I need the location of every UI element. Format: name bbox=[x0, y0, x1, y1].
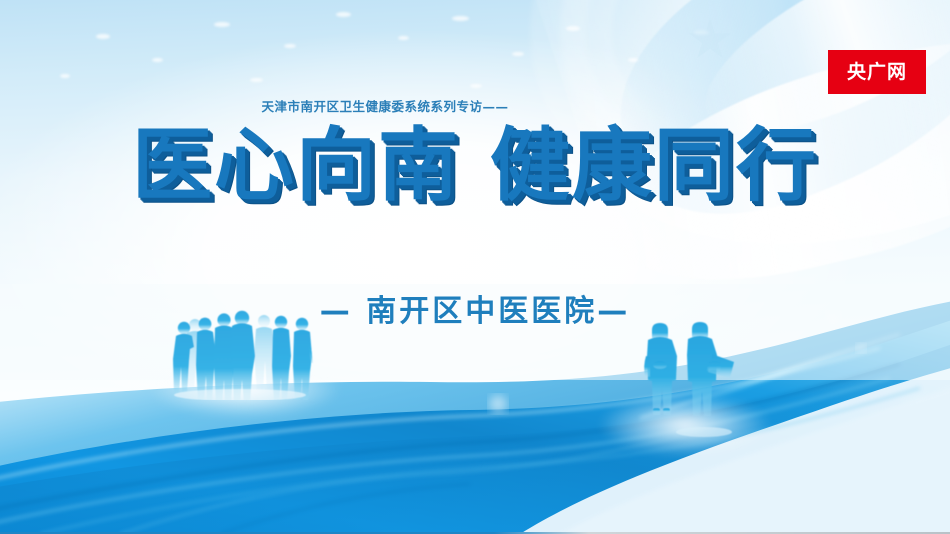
doctor-shadow bbox=[676, 427, 732, 437]
light-fleck bbox=[284, 44, 296, 48]
light-fleck bbox=[452, 16, 469, 21]
light-fleck bbox=[336, 12, 351, 17]
doctor-figure-right bbox=[687, 322, 734, 416]
cnr-logo-text: 央广网 bbox=[847, 63, 907, 82]
light-fleck bbox=[214, 22, 230, 27]
light-fleck bbox=[60, 74, 70, 78]
light-fleck bbox=[470, 84, 482, 88]
kicker-text: 天津市南开区卫生健康委系统系列专访—— bbox=[0, 96, 860, 115]
crowd-figure bbox=[293, 318, 313, 400]
cnr-logo[interactable]: 央广网 bbox=[828, 50, 926, 94]
light-fleck bbox=[96, 34, 110, 39]
light-fleck bbox=[152, 58, 163, 62]
bokeh-dot bbox=[489, 395, 507, 413]
light-fleck bbox=[398, 36, 409, 40]
doctor-figure-left bbox=[644, 323, 677, 415]
doctor-silhouettes-graphic bbox=[620, 320, 740, 445]
subject-title: — 南开区中医医院— bbox=[0, 286, 950, 330]
poster-canvas: 天津市南开区卫生健康委系统系列专访—— 医心向南 健康同行 — 南开区中医医院—… bbox=[0, 0, 950, 534]
light-fleck bbox=[250, 78, 263, 82]
page-title: 医心向南 健康同行 bbox=[0, 126, 950, 206]
light-fleck bbox=[512, 52, 524, 56]
